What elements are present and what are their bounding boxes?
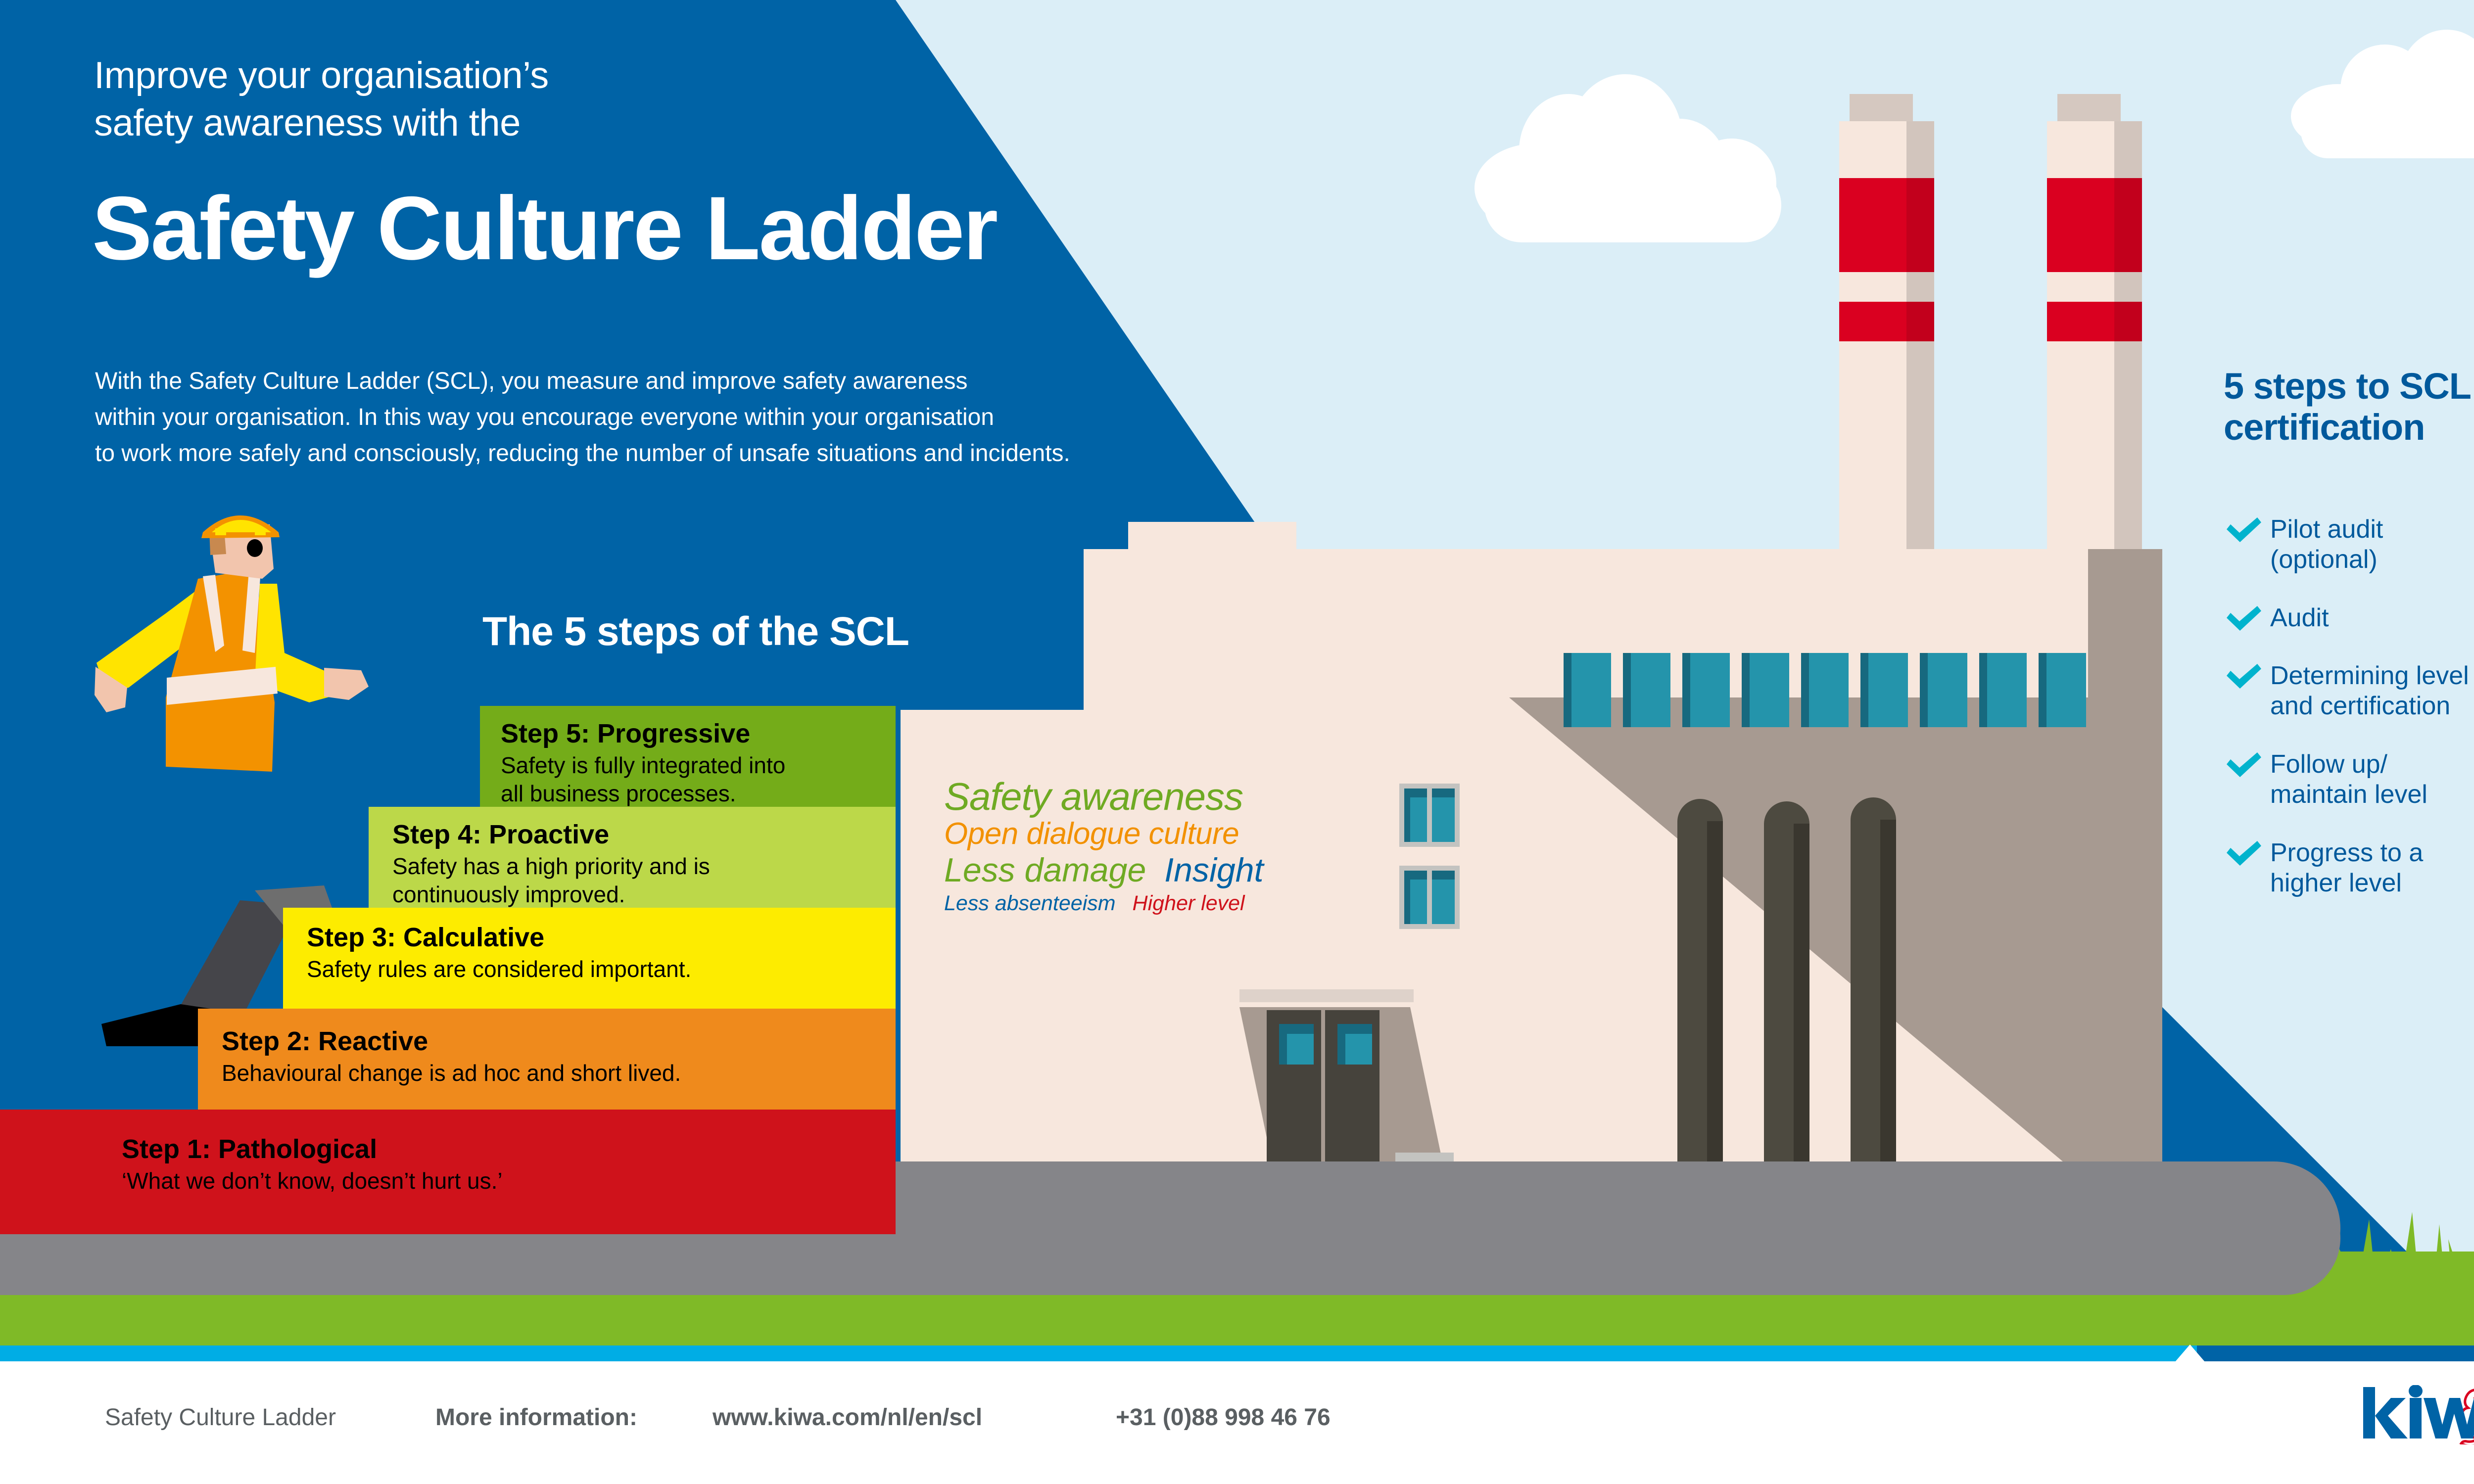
awareness-word-cluster: Safety awareness Open dialogue culture L… bbox=[944, 777, 1389, 915]
step-title: Step 2: Reactive bbox=[222, 1026, 881, 1056]
certification-item-line-2: and certification bbox=[2270, 691, 2474, 721]
factory-window-frame bbox=[1399, 866, 1460, 929]
intro-line-2: within your organisation. In this way yo… bbox=[95, 400, 1312, 436]
factory-window-frame bbox=[1399, 784, 1460, 847]
kicker-line-1: Improve your organisation’s bbox=[94, 52, 1133, 99]
cloud-icon bbox=[2286, 30, 2474, 143]
intro-line-1: With the Safety Culture Ladder (SCL), yo… bbox=[95, 364, 1312, 400]
awareness-less-absenteeism: Less absenteeism bbox=[944, 891, 1116, 915]
certification-item-line-1: Pilot audit bbox=[2270, 514, 2474, 545]
step-desc-line-1: Safety rules are considered important. bbox=[307, 955, 881, 983]
factory-chimney-left bbox=[1831, 94, 1969, 549]
awareness-line-4: Less absenteeism Higher level bbox=[944, 892, 1389, 914]
factory-right-shade bbox=[2088, 549, 2162, 1185]
awareness-line-2: Open dialogue culture bbox=[944, 818, 1389, 850]
kicker-heading: Improve your organisation’s safety aware… bbox=[94, 52, 1133, 147]
factory-door-window-shade bbox=[1337, 1024, 1345, 1065]
certification-item-line-1: Follow up/ bbox=[2270, 749, 2474, 780]
awareness-line-1: Safety awareness bbox=[944, 777, 1389, 816]
certification-item-determining-level[interactable]: Determining level and certification bbox=[2217, 661, 2474, 722]
factory-canopy-top bbox=[1239, 989, 1414, 1002]
awareness-line-3: Less damage Insight bbox=[944, 853, 1389, 887]
factory-pipe-shade bbox=[1880, 820, 1896, 1190]
ladder-step-5[interactable]: Step 5: Progressive Safety is fully inte… bbox=[480, 706, 896, 807]
step-title: Step 3: Calculative bbox=[307, 923, 881, 952]
infographic-poster: Improve your organisation’s safety aware… bbox=[0, 0, 2474, 1484]
certification-item-line-1: Determining level bbox=[2270, 661, 2474, 691]
certification-item-line-1: Progress to a bbox=[2270, 838, 2474, 868]
step-desc-line-1: Safety is fully integrated into bbox=[501, 751, 881, 779]
footer-product-name: Safety Culture Ladder bbox=[105, 1404, 336, 1431]
check-icon bbox=[2225, 752, 2262, 778]
certification-title-line-1: 5 steps to SCL bbox=[2224, 366, 2474, 407]
footer-cyan-bar bbox=[0, 1345, 2197, 1361]
certification-item-line-1: Audit bbox=[2270, 603, 2474, 633]
certification-item-line-2: higher level bbox=[2270, 868, 2474, 898]
step-desc-line-1: Behavioural change is ad hoc and short l… bbox=[222, 1059, 881, 1087]
ladder-step-1[interactable]: Step 1: Pathological ‘What we don’t know… bbox=[0, 1110, 896, 1234]
page-title: Safety Culture Ladder bbox=[92, 183, 1576, 273]
footer-url[interactable]: www.kiwa.com/nl/en/scl bbox=[713, 1404, 982, 1431]
certification-item-pilot-audit[interactable]: Pilot audit (optional) bbox=[2217, 514, 2474, 575]
awareness-insight: Insight bbox=[1164, 851, 1263, 889]
step-desc-line-1: Safety has a high priority and is bbox=[392, 852, 881, 880]
ladder-heading: The 5 steps of the SCL bbox=[482, 608, 909, 655]
certification-item-progress[interactable]: Progress to a higher level bbox=[2217, 838, 2474, 899]
footer-green-bar bbox=[0, 1296, 2474, 1345]
awareness-higher-level: Higher level bbox=[1133, 891, 1245, 915]
step-title: Step 4: Proactive bbox=[392, 820, 881, 849]
check-icon bbox=[2225, 517, 2262, 543]
check-icon bbox=[2225, 606, 2262, 632]
certification-step-list: Pilot audit (optional) Audit Determining… bbox=[2217, 514, 2474, 926]
intro-line-3: to work more safely and consciously, red… bbox=[95, 436, 1312, 472]
certification-title-line-2: certification bbox=[2224, 407, 2474, 448]
factory-pipe-shade bbox=[1794, 824, 1809, 1190]
check-icon bbox=[2225, 664, 2262, 690]
factory-roof-box bbox=[1128, 522, 1296, 552]
step-desc-line-2: continuously improved. bbox=[392, 881, 881, 908]
factory-door-window-shade bbox=[1279, 1024, 1287, 1065]
step-desc-line-2: all business processes. bbox=[501, 780, 881, 807]
check-icon bbox=[2225, 841, 2262, 867]
certification-panel-title: 5 steps to SCL certification bbox=[2224, 366, 2474, 448]
factory-window-strip bbox=[1564, 653, 2088, 727]
step-desc-line-1: ‘What we don’t know, doesn’t hurt us.’ bbox=[122, 1167, 881, 1195]
footer-blue-bar bbox=[2197, 1345, 2474, 1361]
factory-pipe-shade bbox=[1707, 821, 1723, 1190]
kiwa-logo[interactable] bbox=[2360, 1385, 2474, 1444]
step-title: Step 5: Progressive bbox=[501, 719, 881, 748]
awareness-less-damage: Less damage bbox=[944, 851, 1146, 889]
certification-item-follow-up[interactable]: Follow up/ maintain level bbox=[2217, 749, 2474, 810]
intro-paragraph: With the Safety Culture Ladder (SCL), yo… bbox=[95, 364, 1312, 472]
ladder-step-2[interactable]: Step 2: Reactive Behavioural change is a… bbox=[198, 1009, 896, 1110]
certification-item-audit[interactable]: Audit bbox=[2217, 603, 2474, 633]
footer-more-info-label: More information: bbox=[435, 1404, 637, 1431]
kicker-line-2: safety awareness with the bbox=[94, 99, 1133, 147]
step-title: Step 1: Pathological bbox=[122, 1134, 881, 1164]
ladder-step-4[interactable]: Step 4: Proactive Safety has a high prio… bbox=[369, 807, 896, 908]
footer-phone[interactable]: +31 (0)88 998 46 76 bbox=[1116, 1404, 1331, 1431]
certification-item-line-2: maintain level bbox=[2270, 780, 2474, 810]
certification-item-line-2: (optional) bbox=[2270, 545, 2474, 575]
ladder-step-3[interactable]: Step 3: Calculative Safety rules are con… bbox=[283, 908, 896, 1009]
factory-chimney-right bbox=[2039, 94, 2177, 549]
